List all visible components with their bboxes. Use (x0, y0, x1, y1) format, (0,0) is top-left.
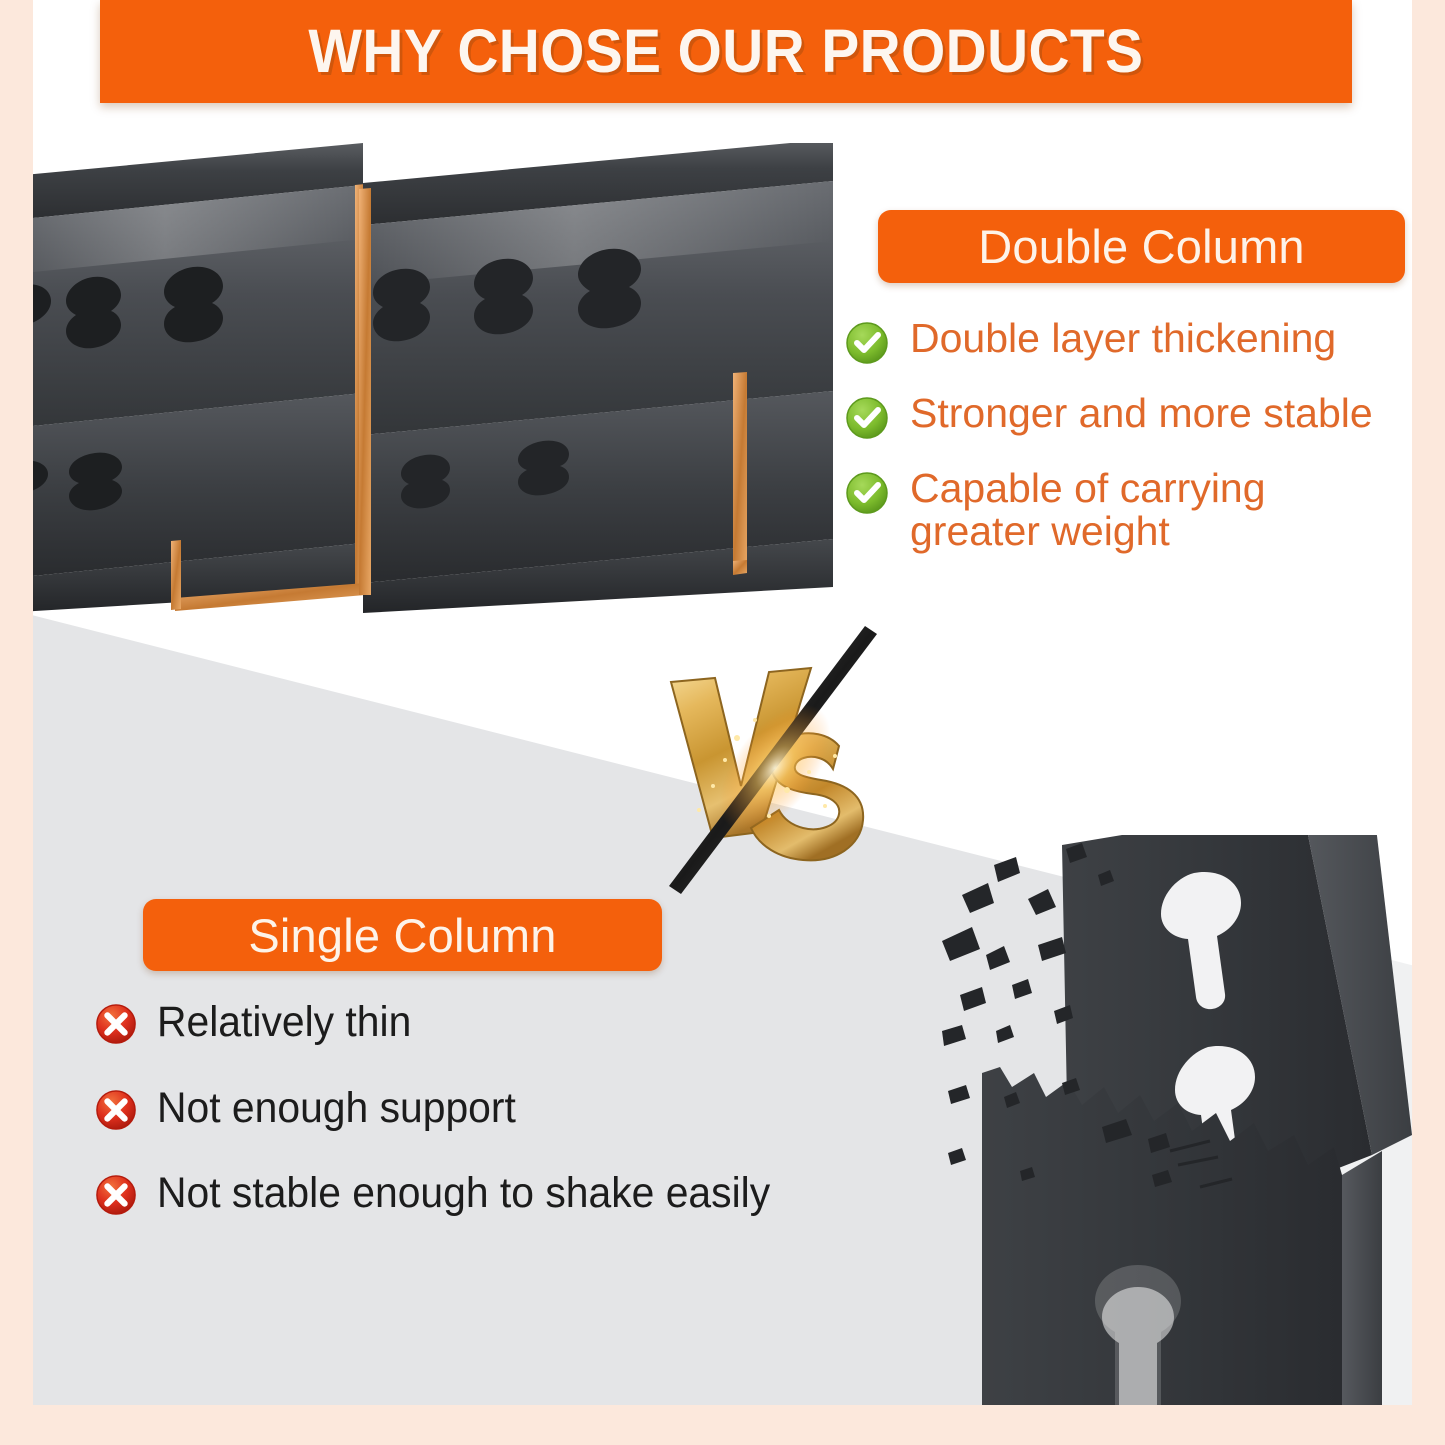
list-item-label: Capable of carrying greater weight (910, 467, 1266, 554)
check-circle-icon (845, 471, 889, 515)
list-item: Not stable enough to shake easily (95, 1171, 885, 1217)
double-column-steel-rail-photo (33, 143, 833, 618)
double-column-badge: Double Column (878, 210, 1405, 283)
list-item: Not enough support (95, 1086, 885, 1132)
list-item-label: Not stable enough to shake easily (157, 1171, 770, 1217)
content-panel: Double Column Double layer thickeni (33, 0, 1412, 1405)
header-banner: WHY CHOSE OUR PRODUCTS (100, 0, 1352, 103)
list-item: Relatively thin (95, 1000, 885, 1046)
cross-circle-icon (95, 1003, 137, 1045)
cross-circle-icon (95, 1089, 137, 1131)
page-title: WHY CHOSE OUR PRODUCTS (309, 21, 1144, 82)
vs-gold-emblem (629, 620, 909, 905)
check-circle-icon (845, 321, 889, 365)
list-item-label-line1: Capable of carrying (910, 465, 1266, 511)
infographic-page: Double Column Double layer thickeni (0, 0, 1445, 1445)
list-item-label: Relatively thin (157, 1000, 411, 1046)
list-item-label-line2: greater weight (910, 510, 1266, 553)
check-circle-icon (845, 396, 889, 440)
cross-circle-icon (95, 1174, 137, 1216)
double-column-badge-label: Double Column (978, 223, 1305, 270)
list-item-label: Stronger and more stable (910, 392, 1373, 435)
double-column-benefits-list: Double layer thickening Stronger and mor… (845, 317, 1412, 581)
list-item: Capable of carrying greater weight (845, 467, 1412, 554)
single-column-badge-label: Single Column (248, 912, 556, 959)
list-item-label: Not enough support (157, 1086, 516, 1132)
list-item: Stronger and more stable (845, 392, 1412, 440)
single-column-drawbacks-list: Relatively thin Not enough support Not s… (95, 1000, 885, 1257)
broken-single-column-photo (942, 835, 1412, 1405)
single-column-badge: Single Column (143, 899, 662, 971)
list-item: Double layer thickening (845, 317, 1412, 365)
list-item-label: Double layer thickening (910, 317, 1336, 360)
